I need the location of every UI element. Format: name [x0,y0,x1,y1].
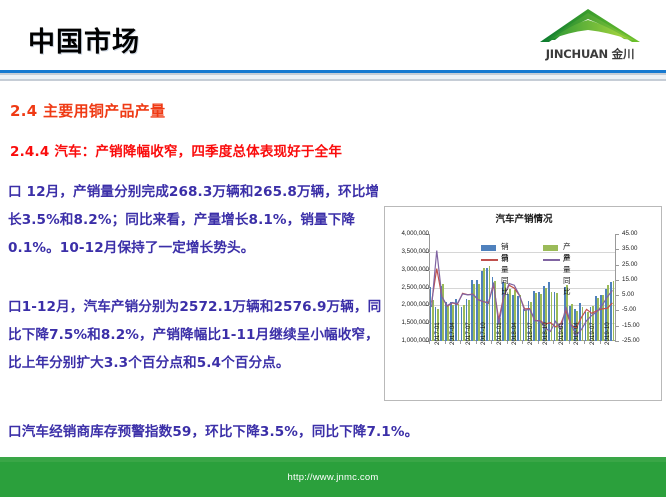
x-axis-tick-label: 2017-01 [434,322,441,345]
right-axis-tick-label: 5.00 [622,291,662,298]
y2-tick [615,249,619,250]
right-axis-tick-label: 25.00 [622,261,662,268]
paragraph-monthly-output: 口 12月，产销量分别完成268.3万辆和265.8万辆，环比增长3.5%和8.… [8,178,386,262]
x-axis-tick-label: 2019-07 [589,322,596,345]
y2-tick [615,310,619,311]
page-title: 中国市场 [28,20,140,59]
slide-header: 中国市场 JINCHUAN 金川 [0,0,666,70]
mountain-logo-icon [536,6,644,46]
y2-tick [615,234,619,235]
right-axis-tick-label: -5.00 [622,306,662,313]
auto-production-sales-chart: 汽车产销情况 1,000,0001,500,0002,000,0002,500,… [384,206,662,401]
x-tick [522,341,523,344]
x-axis-tick-label: 2017-10 [480,322,487,345]
x-axis-tick-label: 2017-07 [465,322,472,345]
slide-footer: http://www.jnmc.com [0,462,666,497]
x-tick [507,341,508,344]
y2-tick [615,280,619,281]
logo-wordmark: JINCHUAN 金川 [530,46,650,62]
x-axis-tick-label: 2019-10 [604,322,611,345]
left-axis-tick-label: 2,500,000 [387,284,429,291]
x-axis-tick-label: 2018-04 [511,322,518,345]
legend-row-lines: 销量同比 产量同比 [481,253,611,265]
right-axis-tick-label: -25.00 [622,337,662,344]
y2-tick [615,265,619,266]
brand-logo: JINCHUAN 金川 [530,6,650,68]
x-axis-tick-label: 2019-01 [558,322,565,345]
x-axis-tick-label: 2018-07 [527,322,534,345]
right-axis-tick-label: 45.00 [622,230,662,237]
paragraph-inventory-index: 口汽车经销商库存预警指数59，环比下降3.5%，同比下降7.1%。 [8,418,658,446]
x-tick [553,341,554,344]
right-axis-tick-label: 35.00 [622,245,662,252]
x-axis-tick-label: 2018-10 [542,322,549,345]
sales-yoy-line [432,269,613,328]
right-axis-tick-label: -15.00 [622,322,662,329]
x-tick [476,341,477,344]
header-divider-light [0,75,666,79]
x-tick [445,341,446,344]
legend-swatch-sales [481,245,496,251]
x-axis-tick-label: 2019-04 [573,322,580,345]
left-axis-tick-label: 3,500,000 [387,248,429,255]
right-axis-tick-label: 15.00 [622,276,662,283]
slide-canvas: 中国市场 JINCHUAN 金川 [0,0,666,497]
legend-row-bars: 销量 产量 [481,241,611,253]
x-tick [460,341,461,344]
x-tick [569,341,570,344]
x-tick [584,341,585,344]
legend-label-sales-yoy: 销量同比 [501,253,509,297]
left-axis-tick-label: 2,000,000 [387,301,429,308]
paragraph-annual-output: 口1-12月，汽车产销分别为2572.1万辆和2576.9万辆，同比下降7.5%… [8,293,386,377]
legend-swatch-production [543,245,558,251]
chart-legend: 销量 产量 销量同比 产量同比 [481,241,611,265]
left-axis-tick-label: 4,000,000 [387,230,429,237]
legend-line-sales-yoy [481,259,498,261]
legend-line-production-yoy [543,259,560,261]
y2-tick [615,326,619,327]
left-axis-tick-label: 1,000,000 [387,337,429,344]
subsection-heading: 2.4.4 汽车：产销降幅收窄，四季度总体表现好于全年 [10,140,342,160]
y2-tick [615,341,619,342]
chart-title: 汽车产销情况 [385,211,663,225]
left-axis-tick-label: 3,000,000 [387,266,429,273]
x-tick [600,341,601,344]
y2-tick [615,295,619,296]
footer-url: http://www.jnmc.com [0,472,666,483]
x-tick [538,341,539,344]
legend-label-production-yoy: 产量同比 [563,253,571,297]
x-tick [491,341,492,344]
section-heading: 2.4 主要用铜产品产量 [10,100,165,121]
left-axis-tick-label: 1,500,000 [387,319,429,326]
x-tick [429,341,430,344]
x-axis-tick-label: 2017-04 [449,322,456,345]
x-axis-tick-label: 2018-01 [496,322,503,345]
